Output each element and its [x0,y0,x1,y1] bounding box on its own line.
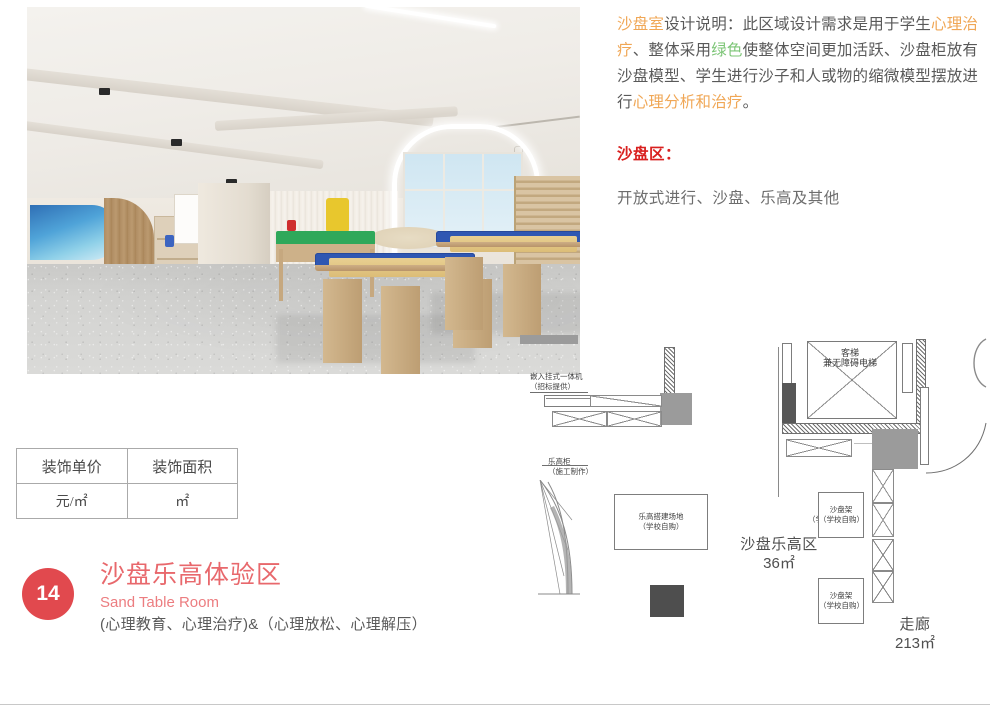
lego-figure [287,220,296,231]
room-title-block: 14 沙盘乐高体验区 Sand Table Room (心理教育、心理治疗)&（… [22,560,427,636]
table-leg [445,257,484,330]
plan-cabinet-x [872,571,894,603]
plan-sand-rack-1: 沙盘架 （学校自购） [818,492,864,538]
table-header-row: 装饰单价 装饰面积 [17,449,238,484]
label-underline [530,392,588,393]
description-text-1: 设计说明：此区域设计需求是用于学生 [664,16,931,33]
plan-column [872,429,918,469]
description-text-4: 。 [743,94,759,111]
green-highlight: 绿色 [711,42,742,59]
plan-shaft-slot [902,343,913,393]
table-cell-area: ㎡ [127,484,238,519]
ceiling-spotlight [99,88,110,95]
plan-wall-line [778,347,779,497]
analysis-highlight: 心理分析和治疗 [633,94,743,111]
label-sand-rack-2: 沙盘架 （学校自购） [819,591,863,611]
interior-render-photo [27,7,580,374]
label-embedded-screen: 嵌入挂式一体机 （招标提供） [530,372,583,392]
plan-dark-block [650,585,684,617]
plan-sand-rack-2: 沙盘架 （学校自购） [818,578,864,624]
plan-cabinet-x [872,469,894,503]
label-lego-cabinet: 乐高柜 （施工制作） [548,457,593,477]
table-leg [279,249,283,300]
lego-figure [165,235,174,247]
room-title-texts: 沙盘乐高体验区 Sand Table Room (心理教育、心理治疗)&（心理放… [100,560,427,636]
description-text-2: 、整体采用 [633,42,712,59]
label-underline [542,465,588,466]
plan-partial-arc [966,335,990,391]
table-header-area: 装饰面积 [127,449,238,484]
table-row: 元/㎡ ㎡ [17,484,238,519]
plan-cabinet-x [872,503,894,537]
description-panel: 沙盘室设计说明：此区域设计需求是用于学生心理治疗、整体采用绿色使整体空间更加活跃… [617,12,985,208]
plan-cabinet-door [590,395,662,407]
room-subtitle: (心理教育、心理治疗)&（心理放松、心理解压） [100,614,427,636]
section-body-sand-area: 开放式进行、沙盘、乐高及其他 [617,186,985,208]
table-leg [503,264,542,337]
room-name: 沙盘乐高区 [724,535,834,554]
table-header-unit-price: 装饰单价 [17,449,128,484]
yellow-wall-toy [326,198,349,235]
room-area: 213㎡ [860,634,970,654]
room-number-badge: 14 [22,568,74,620]
table-leg [323,279,362,363]
room-name-cn: 沙盘乐高体验区 [100,560,427,590]
plan-lego-build-area: 乐高搭建场地 （学校自购） [614,494,708,550]
description-paragraph: 沙盘室设计说明：此区域设计需求是用于学生心理治疗、整体采用绿色使整体空间更加活跃… [617,12,985,116]
section-title-sand-area: 沙盘区： [617,142,985,164]
label-lego-area: 乐高搭建场地 （学校自购） [615,512,707,532]
plan-curved-wall [538,480,582,595]
room-area: 36㎡ [724,554,834,574]
plan-cabinet-x [786,439,852,457]
plan-detail-line [546,398,590,399]
plan-column [660,393,692,425]
green-activity-table [276,231,376,246]
plan-wall-hatch [664,347,675,397]
plan-cabinet-x [872,539,894,571]
plan-cabinet-x [552,411,607,427]
plan-shaft-slot [782,343,792,387]
room-label-corridor: 走廊 213㎡ [860,615,970,654]
room-type-highlight: 沙盘室 [617,16,664,33]
decoration-price-table: 装饰单价 装饰面积 元/㎡ ㎡ [16,448,238,519]
floor-plan-diagram: 嵌入挂式一体机 （招标提供） 乐高柜 （施工制作） 乐高搭建场地 （学校自购） [520,335,990,675]
plan-door-swing [924,421,990,475]
plan-edge-block [520,335,578,344]
plan-cabinet-x [607,411,662,427]
table-leg [381,286,420,374]
room-name-en: Sand Table Room [100,592,427,613]
label-elevator: 客梯 兼无障碍电梯 [823,348,877,368]
label-sand-rack-1: 沙盘架 （学校自购） [819,505,863,525]
table-cell-unit-price: 元/㎡ [17,484,128,519]
room-name: 走廊 [860,615,970,634]
room-label-sand-lego-area: 沙盘乐高区 36㎡ [724,535,834,574]
ceiling-spotlight [171,139,182,146]
